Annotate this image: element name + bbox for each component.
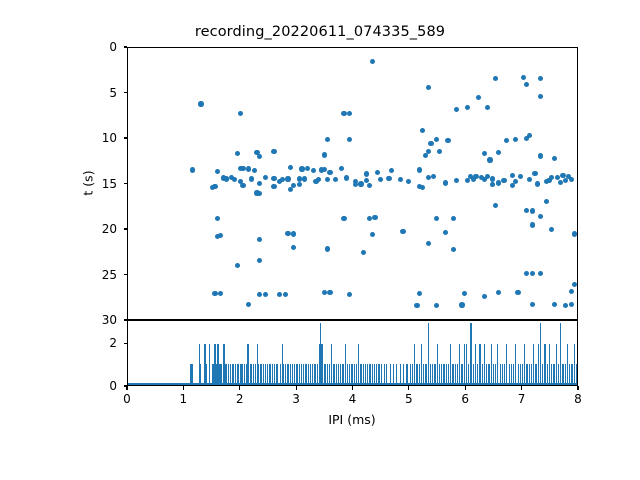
histogram-bar (205, 364, 206, 385)
histogram-bar (488, 364, 489, 385)
histogram-bar (509, 364, 510, 385)
scatter-point (538, 271, 543, 276)
histogram-bar (491, 344, 492, 385)
scatter-point (518, 174, 523, 179)
histogram-bar (223, 344, 224, 385)
scatter-point (524, 82, 529, 87)
x-tick-label: 0 (123, 392, 131, 406)
scatter-point (454, 178, 459, 183)
histogram-bar (524, 344, 525, 385)
x-tick-mark (296, 386, 297, 390)
scatter-point (521, 75, 526, 80)
y-tick-label: 15 (0, 177, 117, 191)
x-tick-mark (465, 386, 466, 390)
scatter-point (496, 180, 501, 185)
scatter-point (490, 182, 495, 187)
y-tick-mark (124, 92, 128, 93)
scatter-point (386, 176, 391, 181)
scatter-point (297, 176, 302, 181)
x-tick-mark (521, 386, 522, 390)
histogram-bar (280, 364, 281, 385)
y-tick-mark (124, 274, 128, 275)
scatter-point (378, 177, 383, 182)
scatter-point (476, 95, 481, 100)
scatter-point (361, 250, 366, 255)
scatter-point (353, 182, 358, 187)
scatter-point (215, 169, 220, 174)
scatter-point (398, 177, 403, 182)
scatter-point (283, 292, 288, 297)
histogram-bar (356, 364, 357, 385)
histogram-bar (342, 364, 343, 385)
scatter-point (257, 258, 262, 263)
histogram-bar (299, 364, 300, 385)
scatter-point (549, 227, 554, 232)
histogram-bar (372, 364, 373, 385)
histogram-bar (250, 364, 251, 385)
histogram-bar (218, 344, 219, 385)
histogram-bar (428, 323, 429, 385)
hist-y-tick-label: 0 (0, 379, 117, 393)
histogram-bar (319, 344, 320, 385)
histogram-bar (204, 344, 205, 385)
histogram-bar (518, 364, 519, 385)
scatter-point (297, 182, 302, 187)
scatter-point (485, 105, 490, 110)
scatter-point (524, 136, 529, 141)
scatter-point (198, 101, 203, 106)
histogram-bar (305, 364, 306, 385)
scatter-point (549, 175, 554, 180)
histogram-bar (191, 364, 192, 385)
scatter-point (325, 246, 330, 251)
histogram-bar (217, 344, 218, 385)
x-tick-label: 5 (405, 392, 413, 406)
histogram-bar (247, 344, 248, 385)
scatter-point (347, 137, 352, 142)
histogram-bar (287, 364, 288, 385)
scatter-point (322, 152, 327, 157)
scatter-point (493, 203, 498, 208)
scatter-point (510, 183, 515, 188)
histogram-bar (567, 344, 568, 385)
y-tick-label: 25 (0, 268, 117, 282)
histogram-bar (441, 364, 442, 385)
histogram-bar (466, 344, 467, 385)
scatter-point (218, 291, 223, 296)
histogram-bar (216, 364, 217, 385)
histogram-bar (410, 364, 411, 385)
scatter-point (322, 290, 327, 295)
scatter-point (364, 178, 369, 183)
scatter-point (560, 173, 565, 178)
x-tick-mark (183, 386, 184, 390)
scatter-point (572, 231, 577, 236)
histogram-bar (470, 323, 471, 385)
scatter-point (546, 178, 551, 183)
histogram-bar (396, 364, 397, 385)
histogram-bar (419, 364, 420, 385)
histogram-bar (219, 364, 220, 385)
scatter-point (322, 167, 327, 172)
scatter-point (238, 166, 243, 171)
scatter-point (538, 153, 543, 158)
scatter-point (443, 230, 448, 235)
scatter-point (451, 247, 456, 252)
histogram-bar (238, 364, 239, 385)
histogram-bar (482, 364, 483, 385)
scatter-point (572, 282, 577, 287)
scatter-point (434, 303, 439, 308)
x-tick-mark (577, 386, 578, 390)
scatter-point (538, 214, 543, 219)
scatter-point (341, 216, 346, 221)
scatter-point (482, 151, 487, 156)
histogram-bar (322, 344, 323, 385)
scatter-point (327, 290, 332, 295)
scatter-point (417, 291, 422, 296)
scatter-point (288, 165, 293, 170)
scatter-point (210, 185, 215, 190)
scatter-point (431, 174, 436, 179)
histogram-bar (430, 364, 431, 385)
y-tick-label: 0 (0, 40, 117, 54)
histogram-bar (464, 344, 465, 385)
scatter-point (299, 166, 304, 171)
x-tick-mark (352, 386, 353, 390)
histogram-bar (263, 364, 264, 385)
scatter-point (370, 59, 375, 64)
x-axis-label: IPI (ms) (328, 412, 375, 427)
scatter-point (212, 291, 217, 296)
histogram-bar (321, 344, 322, 385)
y-tick-mark (124, 46, 128, 47)
histogram-bar (390, 364, 391, 385)
histogram-bar (515, 344, 516, 385)
scatter-point (246, 166, 251, 171)
histogram-bar (434, 364, 435, 385)
histogram-bar (237, 364, 238, 385)
histogram-bar (209, 344, 210, 385)
scatter-point (414, 303, 419, 308)
scatter-point (305, 166, 310, 171)
histogram-bar (296, 364, 297, 385)
scatter-point (538, 94, 543, 99)
scatter-point (527, 177, 532, 182)
scatter-point (426, 149, 431, 154)
scatter-point (367, 183, 372, 188)
scatter-point (406, 179, 411, 184)
histogram-bar (314, 364, 315, 385)
scatter-point (563, 303, 568, 308)
scatter-point (229, 175, 234, 180)
histogram-bar (320, 323, 321, 385)
histogram-bar (504, 364, 505, 385)
scatter-point (257, 181, 262, 186)
scatter-point (254, 190, 259, 195)
histogram-bar (283, 364, 284, 385)
histogram-bar (232, 364, 233, 385)
scatter-point (277, 179, 282, 184)
scatter-point (347, 111, 352, 116)
histogram-bar (192, 364, 193, 385)
scatter-point (232, 177, 237, 182)
histogram-bar (412, 364, 413, 385)
hist-y-tick-mark (124, 343, 128, 344)
histogram-bar (526, 364, 527, 385)
scatter-point (252, 168, 257, 173)
histogram-plot-area (127, 320, 578, 386)
scatter-point (552, 156, 557, 161)
histogram-bar (241, 364, 242, 385)
scatter-point (327, 170, 332, 175)
scatter-point (490, 182, 495, 187)
histogram-bar (269, 364, 270, 385)
scatter-point (341, 111, 346, 116)
histogram-bar (267, 364, 268, 385)
scatter-point (263, 175, 268, 180)
histogram-bar (495, 364, 496, 385)
histogram-baseline (128, 383, 577, 385)
histogram-bar (329, 364, 330, 385)
histogram-bar (213, 364, 214, 385)
histogram-bar (235, 364, 236, 385)
scatter-point (215, 234, 220, 239)
scatter-point (468, 174, 473, 179)
scatter-point (325, 177, 330, 182)
histogram-bar (331, 344, 332, 385)
histogram-bar (369, 364, 370, 385)
histogram-bar (294, 364, 295, 385)
scatter-point (240, 166, 245, 171)
scatter-point (339, 166, 344, 171)
histogram-bar (317, 364, 318, 385)
histogram-bar (282, 344, 283, 385)
x-tick-mark (408, 386, 409, 390)
scatter-point (527, 133, 532, 138)
scatter-point (566, 174, 571, 179)
histogram-bar (225, 364, 226, 385)
histogram-bar (240, 364, 241, 385)
scatter-point (487, 157, 492, 162)
scatter-point (235, 263, 240, 268)
scatter-point (420, 185, 425, 190)
scatter-point (288, 187, 293, 192)
scatter-point (544, 179, 549, 184)
histogram-bar (308, 364, 309, 385)
scatter-point (552, 302, 557, 307)
histogram-bar (452, 364, 453, 385)
histogram-bar (358, 344, 359, 385)
histogram-bar (535, 364, 536, 385)
histogram-bar (354, 364, 355, 385)
histogram-bar (544, 344, 545, 385)
scatter-point (215, 216, 220, 221)
scatter-point (271, 149, 276, 154)
scatter-point (277, 292, 282, 297)
histogram-bar (531, 364, 532, 385)
scatter-point (389, 168, 394, 173)
y-tick-label: 10 (0, 131, 117, 145)
histogram-bar (562, 364, 563, 385)
scatter-point (428, 141, 433, 146)
scatter-point (426, 175, 431, 180)
scatter-point (569, 289, 574, 294)
histogram-bar (511, 364, 512, 385)
histogram-bar (378, 364, 379, 385)
histogram-bar (551, 364, 552, 385)
scatter-point (538, 76, 543, 81)
histogram-bar (333, 364, 334, 385)
scatter-point (257, 191, 262, 196)
histogram-bar (365, 364, 366, 385)
histogram-bar (533, 344, 534, 385)
histogram-bar (522, 364, 523, 385)
scatter-point (465, 105, 470, 110)
scatter-point (524, 271, 529, 276)
histogram-bar (477, 364, 478, 385)
histogram-bar (221, 364, 222, 385)
scatter-point (530, 271, 535, 276)
scatter-point (367, 216, 372, 221)
x-tick-label: 6 (461, 392, 469, 406)
scatter-point (563, 178, 568, 183)
page-title: recording_20220611_074335_589 (0, 24, 640, 40)
scatter-point (319, 167, 324, 172)
histogram-bar (437, 344, 438, 385)
histogram-bar (529, 364, 530, 385)
y-tick-mark (124, 228, 128, 229)
scatter-point (263, 292, 268, 297)
scatter-point (501, 178, 506, 183)
scatter-point (280, 177, 285, 182)
scatter-point (465, 178, 470, 183)
histogram-bar (212, 364, 213, 385)
histogram-bar (553, 364, 554, 385)
scatter-point (485, 174, 490, 179)
histogram-bar (403, 364, 404, 385)
histogram-bar (556, 344, 557, 385)
scatter-point (471, 177, 476, 182)
x-tick-label: 1 (180, 392, 188, 406)
scatter-point (572, 232, 577, 237)
scatter-point (479, 175, 484, 180)
histogram-bar (260, 364, 261, 385)
histogram-bar (457, 364, 458, 385)
histogram-bar (312, 364, 313, 385)
histogram-bar (542, 364, 543, 385)
histogram-bar (479, 344, 480, 385)
histogram-bar (475, 344, 476, 385)
histogram-bar (502, 364, 503, 385)
scatter-point (212, 184, 217, 189)
histogram-bars-layer (128, 321, 577, 385)
histogram-bar (421, 344, 422, 385)
scatter-point (532, 171, 537, 176)
histogram-bar (439, 364, 440, 385)
x-tick-label: 2 (236, 392, 244, 406)
x-tick-label: 8 (574, 392, 582, 406)
scatter-point (434, 216, 439, 221)
scatter-point (496, 150, 501, 155)
scatter-point (316, 177, 321, 182)
histogram-bar (384, 364, 385, 385)
histogram-bar (468, 364, 469, 385)
histogram-bar (443, 364, 444, 385)
histogram-bar (376, 364, 377, 385)
histogram-bar (265, 364, 266, 385)
histogram-bar (244, 364, 245, 385)
histogram-bar (190, 364, 191, 385)
scatter-point (333, 177, 338, 182)
scatter-point (313, 179, 318, 184)
histogram-bar (493, 364, 494, 385)
figure-canvas: recording_20220611_074335_589 t (s) IPI … (0, 0, 640, 480)
scatter-point (353, 179, 358, 184)
scatter-point (249, 176, 254, 181)
histogram-bar (338, 364, 339, 385)
scatter-point (235, 151, 240, 156)
histogram-bar (274, 364, 275, 385)
histogram-bar (336, 364, 337, 385)
histogram-bar (199, 344, 200, 385)
histogram-bar (374, 364, 375, 385)
histogram-bar (446, 364, 447, 385)
histogram-bar (310, 364, 311, 385)
scatter-point (417, 184, 422, 189)
histogram-bar (347, 364, 348, 385)
histogram-bar (303, 364, 304, 385)
scatter-point (496, 290, 501, 295)
y-tick-mark (124, 137, 128, 138)
histogram-bar (459, 344, 460, 385)
scatter-point (238, 179, 243, 184)
histogram-bar (558, 364, 559, 385)
scatter-point (434, 137, 439, 142)
histogram-bar (450, 344, 451, 385)
scatter-point (291, 183, 296, 188)
x-tick-label: 7 (518, 392, 526, 406)
scatter-point (285, 231, 290, 236)
scatter-point (302, 176, 307, 181)
histogram-bar (520, 364, 521, 385)
histogram-bar (576, 364, 577, 385)
scatter-point (372, 215, 377, 220)
histogram-bar (423, 364, 424, 385)
scatter-point (257, 237, 262, 242)
x-tick-label: 4 (349, 392, 357, 406)
histogram-bar (484, 344, 485, 385)
scatter-point (558, 180, 563, 185)
scatter-plot-area (127, 47, 578, 320)
scatter-point (473, 174, 478, 179)
scatter-point (443, 180, 448, 185)
histogram-bar (513, 364, 514, 385)
histogram-bar (497, 344, 498, 385)
scatter-point (285, 176, 290, 181)
scatter-point (515, 290, 520, 295)
histogram-bar (285, 364, 286, 385)
histogram-bar (248, 344, 249, 385)
histogram-bar (560, 323, 561, 385)
histogram-bar (349, 364, 350, 385)
histogram-bar (574, 344, 575, 385)
histogram-bar (258, 364, 259, 385)
histogram-bar (277, 364, 278, 385)
histogram-bar (340, 364, 341, 385)
scatter-point (291, 245, 296, 250)
histogram-bar (406, 364, 407, 385)
